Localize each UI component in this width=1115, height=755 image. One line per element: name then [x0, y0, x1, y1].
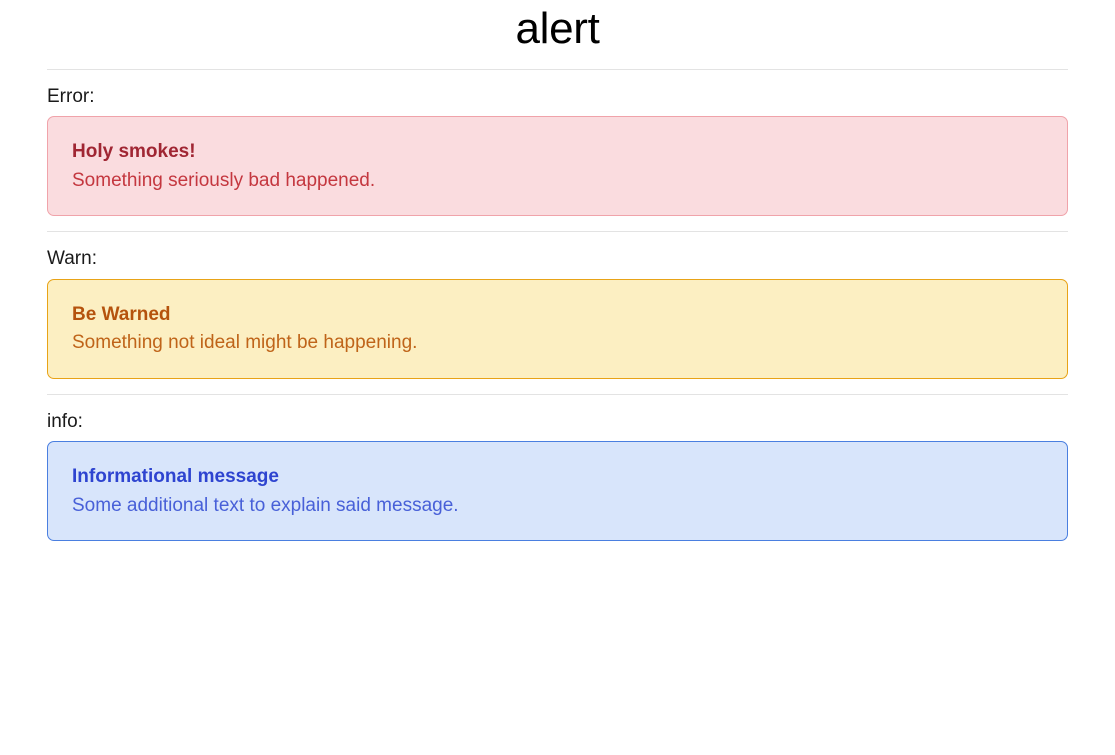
alert-info-body: Some additional text to explain said mes… [72, 493, 1043, 518]
alert-error[interactable]: Holy smokes! Something seriously bad hap… [47, 116, 1068, 216]
alert-warn-title: Be Warned [72, 302, 1043, 327]
alert-error-body: Something seriously bad happened. [72, 168, 1043, 193]
section-label-warn: Warn: [41, 246, 1074, 279]
spacer-after-warn [41, 379, 1074, 394]
section-info: info: Informational message Some additio… [41, 395, 1074, 542]
alert-info[interactable]: Informational message Some additional te… [47, 441, 1068, 541]
alert-error-title: Holy smokes! [72, 139, 1043, 164]
section-error: Error: Holy smokes! Something seriously … [41, 70, 1074, 217]
spacer-after-error [41, 216, 1074, 231]
page-title: alert [41, 0, 1074, 69]
section-warn: Warn: Be Warned Something not ideal migh… [41, 232, 1074, 379]
section-label-info: info: [41, 409, 1074, 442]
alert-warn[interactable]: Be Warned Something not ideal might be h… [47, 279, 1068, 379]
page-root: alert Error: Holy smokes! Something seri… [0, 0, 1115, 755]
alert-warn-body: Something not ideal might be happening. [72, 330, 1043, 355]
section-label-error: Error: [41, 84, 1074, 117]
alert-info-title: Informational message [72, 464, 1043, 489]
